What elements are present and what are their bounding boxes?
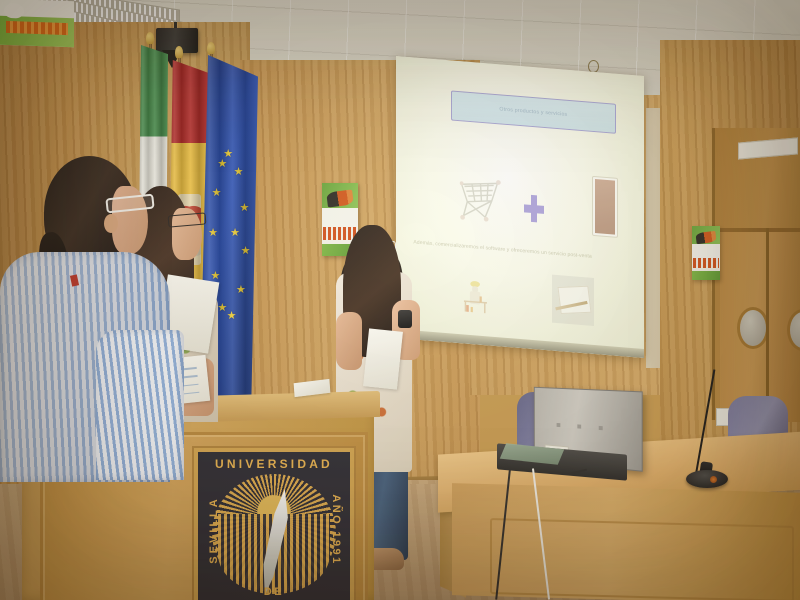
emprende-mas-poster (0, 0, 74, 47)
plus-sign-icon (524, 195, 544, 223)
seal-text-left: SEVILLA (208, 470, 220, 590)
presentation-clicker[interactable] (398, 310, 412, 328)
door-porthole-window (740, 310, 766, 346)
tablet-device-icon (592, 176, 618, 237)
seal-text-top: UNIVERSIDAD (198, 457, 350, 471)
poster-logo (4, 3, 23, 19)
door-center-seam (766, 228, 769, 418)
table-decorative-panel (490, 518, 794, 600)
double-door[interactable] (720, 228, 800, 422)
seal-text-right: AÑO 1991 (330, 470, 342, 590)
shopping-cart-icon (456, 168, 503, 234)
microphone-base[interactable] (686, 470, 728, 488)
technician-clipart-icon (458, 270, 495, 324)
poster-title-band (693, 258, 719, 268)
lanzate-poster (692, 226, 720, 280)
presenter-notes-paper (363, 328, 403, 389)
seal-text-bottom: DE (198, 586, 350, 598)
projection-screen: Otros productos y servicios Además, come… (396, 56, 644, 358)
male-student-ear (104, 214, 118, 233)
male-student-sleeve (96, 330, 184, 480)
poster-title-band (323, 227, 356, 240)
lecture-hall-photograph: Otros productos y servicios Además, come… (0, 0, 800, 600)
poster-title-band (6, 21, 68, 35)
door-porthole-window (790, 312, 800, 348)
microphone-indicator-led (710, 476, 717, 483)
manual-book-icon (552, 274, 594, 325)
university-seal: UNIVERSIDAD SEVILLA AÑO 1991 DE (198, 452, 350, 600)
presenter-left-arm (336, 312, 362, 370)
